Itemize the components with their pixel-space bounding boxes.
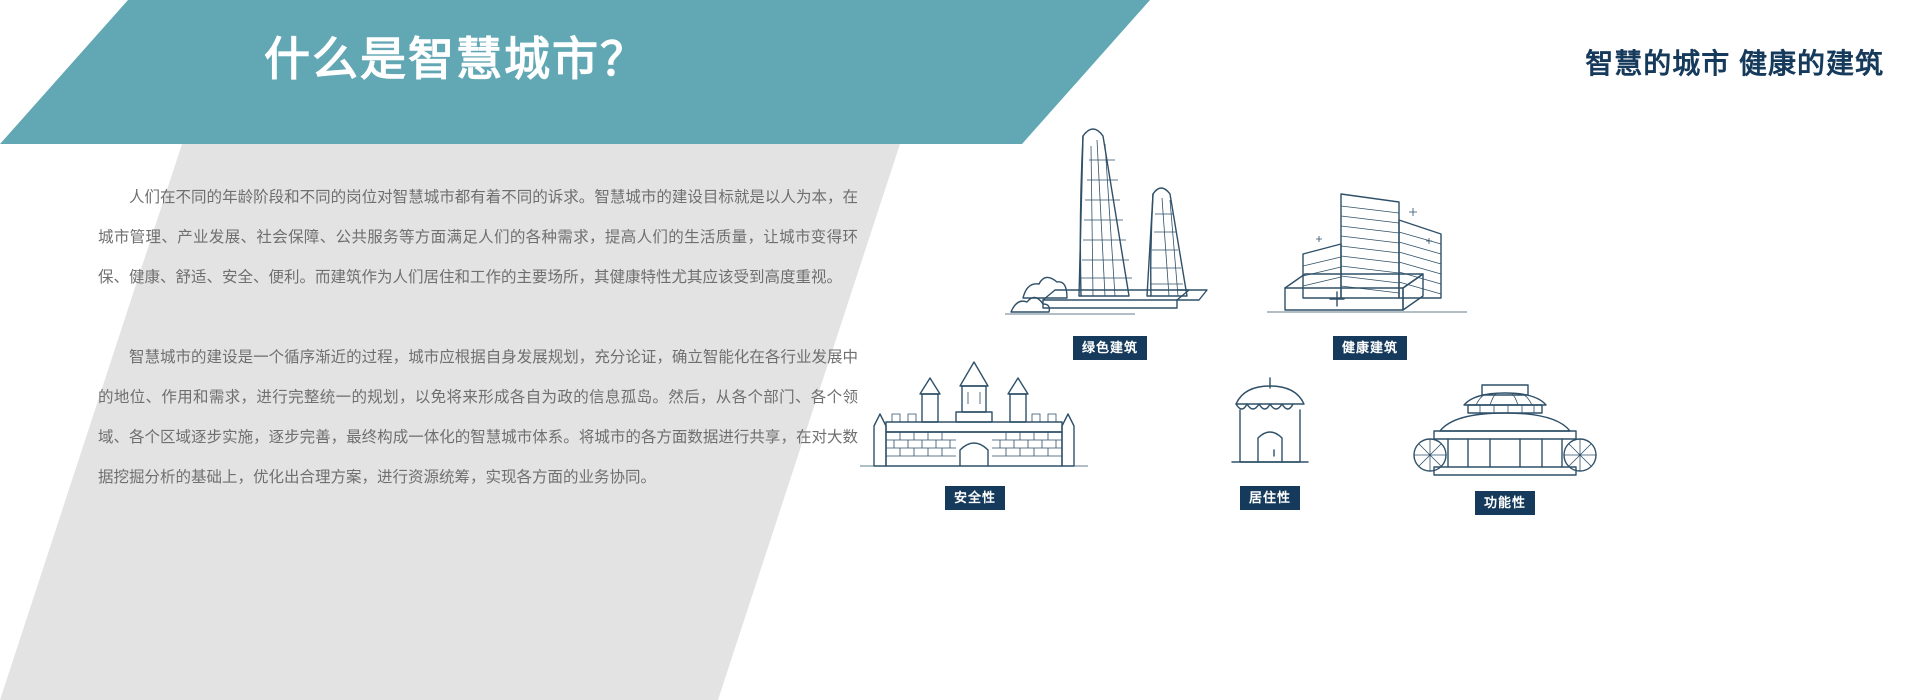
castle-fortress-icon [840, 340, 1110, 480]
label-safety: 安全性 [945, 486, 1005, 510]
illustration-safety: 安全性 [840, 340, 1110, 510]
hospital-complex-icon [1245, 180, 1495, 330]
illustration-group: 绿色建筑 健康建筑 [830, 90, 1920, 610]
header-slogan: 智慧的城市 健康的建筑 [1585, 42, 1884, 82]
label-livability: 居住性 [1240, 486, 1300, 510]
illustration-green-building: 绿色建筑 [985, 100, 1235, 360]
twin-towers-icon [985, 100, 1235, 330]
page-title: 什么是智慧城市？ [264, 36, 648, 82]
illustration-health-building: 健康建筑 [1245, 180, 1495, 360]
illustration-functionality: 功能性 [1390, 375, 1620, 515]
label-functionality: 功能性 [1475, 491, 1535, 515]
paragraph-1: 人们在不同的年龄阶段和不同的岗位对智慧城市都有着不同的诉求。智慧城市的建设目标就… [98, 178, 858, 298]
house-tent-icon [1170, 370, 1370, 480]
illustration-livability: 居住性 [1170, 370, 1370, 510]
body-copy: 人们在不同的年龄阶段和不同的岗位对智慧城市都有着不同的诉求。智慧城市的建设目标就… [98, 178, 858, 498]
paragraph-2: 智慧城市的建设是一个循序渐近的过程，城市应根据自身发展规划，充分论证，确立智能化… [98, 338, 858, 498]
label-health-building: 健康建筑 [1333, 336, 1407, 360]
paragraph-spacer [98, 298, 858, 338]
pavilion-icon [1390, 375, 1620, 485]
